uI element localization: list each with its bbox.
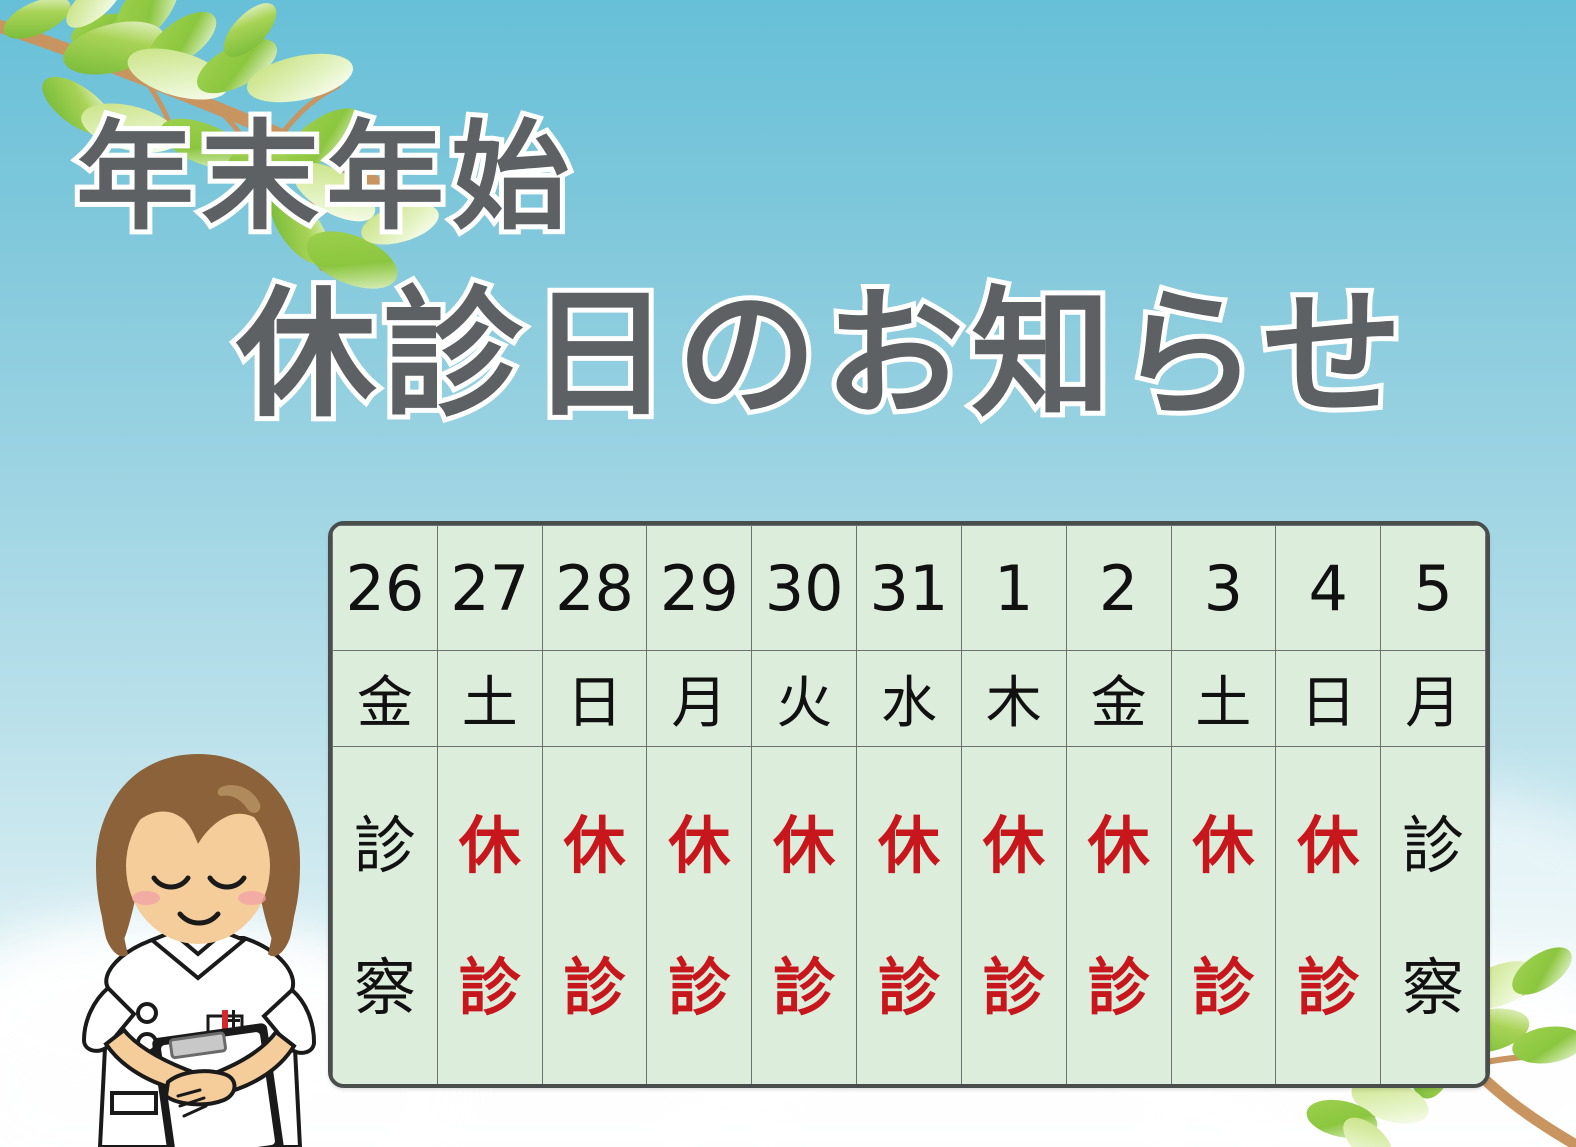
calendar-weekday-cell: 金: [333, 651, 438, 747]
status-badge: 休診: [962, 747, 1066, 1087]
calendar-date-cell: 1: [961, 526, 1066, 651]
status-badge: 休診: [752, 747, 856, 1087]
holiday-calendar-table: 26272829303112345 金土日月火水木金土日月 診察休診休診休診休診…: [328, 521, 1490, 1088]
calendar-status-cell: 休診: [752, 747, 857, 1088]
calendar-weekday-cell: 水: [857, 651, 962, 747]
status-char: 診: [878, 957, 940, 1019]
bowing-nurse-illustration: [48, 738, 348, 1147]
calendar-status-cell: 診察: [1381, 747, 1486, 1088]
status-char: 診: [1088, 957, 1150, 1019]
calendar-status-cell: 休診: [647, 747, 752, 1088]
status-char: 診: [459, 957, 521, 1019]
uniform-pocket: [112, 1093, 156, 1113]
calendar-date-cell: 3: [1171, 526, 1276, 651]
status-badge: 休診: [1067, 747, 1171, 1087]
calendar-status-cell: 診察: [333, 747, 438, 1088]
uniform-button-1: [138, 1004, 156, 1022]
status-char: 診: [983, 957, 1045, 1019]
status-char: 休: [564, 815, 626, 877]
calendar-weekday-cell: 木: [961, 651, 1066, 747]
calendar-date-cell: 29: [647, 526, 752, 651]
status-char: 診: [668, 957, 730, 1019]
status-badge: 休診: [647, 747, 751, 1087]
status-char: 診: [773, 957, 835, 1019]
status-char: 休: [1088, 815, 1150, 877]
calendar-weekday-cell: 月: [1381, 651, 1486, 747]
calendar-status-cell: 休診: [542, 747, 647, 1088]
status-char: 休: [1297, 815, 1359, 877]
calendar-weekday-cell: 火: [752, 651, 857, 747]
heading-line-2: 休診日のお知らせ: [236, 286, 1409, 426]
calendar-status-cell: 休診: [1171, 747, 1276, 1088]
calendar-status-cell: 休診: [857, 747, 962, 1088]
status-badge: 休診: [1172, 747, 1276, 1087]
calendar-status-cell: 休診: [1276, 747, 1381, 1088]
calendar-date-cell: 5: [1381, 526, 1486, 651]
status-char: 休: [983, 815, 1045, 877]
status-char: 診: [354, 815, 416, 877]
heading-line-1: 年末年始: [76, 118, 576, 236]
status-badge: 休診: [543, 747, 647, 1087]
status-char: 休: [668, 815, 730, 877]
status-char: 休: [878, 815, 940, 877]
calendar-date-cell: 26: [333, 526, 438, 651]
calendar-status-cell: 休診: [437, 747, 542, 1088]
calendar-date-cell: 2: [1066, 526, 1171, 651]
calendar-status-cell: 休診: [961, 747, 1066, 1088]
calendar-date-cell: 30: [752, 526, 857, 651]
calendar-date-cell: 4: [1276, 526, 1381, 651]
calendar-weekday-cell: 金: [1066, 651, 1171, 747]
status-char: 休: [773, 815, 835, 877]
calendar-weekday-cell: 土: [437, 651, 542, 747]
calendar-weekday-cell: 日: [542, 651, 647, 747]
status-char: 診: [1402, 815, 1464, 877]
calendar-weekday-cell: 土: [1171, 651, 1276, 747]
status-badge: 休診: [1276, 747, 1380, 1087]
calendar-date-cell: 28: [542, 526, 647, 651]
status-char: 察: [354, 957, 416, 1019]
status-badge: 休診: [438, 747, 542, 1087]
status-char: 診: [1192, 957, 1254, 1019]
calendar-weekday-row: 金土日月火水木金土日月: [333, 651, 1486, 747]
status-badge: 休診: [857, 747, 961, 1087]
status-char: 察: [1402, 957, 1464, 1019]
calendar-date-cell: 31: [857, 526, 962, 651]
calendar-date-cell: 27: [437, 526, 542, 651]
status-char: 休: [1192, 815, 1254, 877]
status-badge: 診察: [333, 747, 437, 1087]
calendar-date-row: 26272829303112345: [333, 526, 1486, 651]
status-char: 診: [1297, 957, 1359, 1019]
status-char: 診: [564, 957, 626, 1019]
poster-canvas: 年末年始 休診日のお知らせ: [0, 0, 1576, 1147]
calendar-weekday-cell: 日: [1276, 651, 1381, 747]
calendar-weekday-cell: 月: [647, 651, 752, 747]
calendar-status-cell: 休診: [1066, 747, 1171, 1088]
calendar-status-row: 診察休診休診休診休診休診休診休診休診休診診察: [333, 747, 1486, 1088]
status-char: 休: [459, 815, 521, 877]
status-badge: 診察: [1381, 747, 1485, 1087]
